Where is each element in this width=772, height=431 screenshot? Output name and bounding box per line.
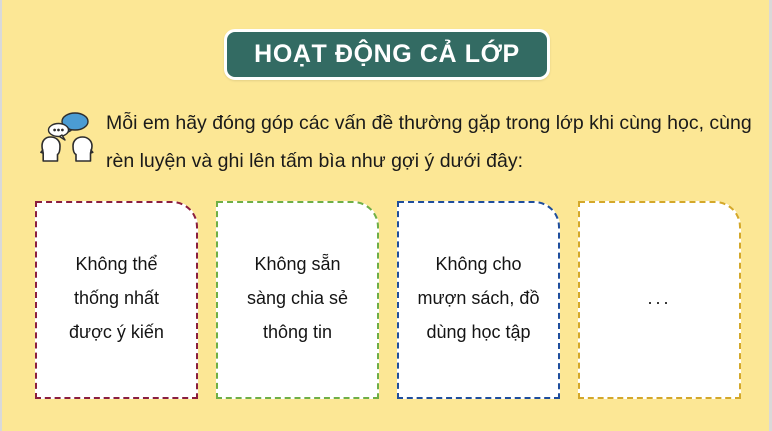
idea-card-2-line-1: Không sẵn bbox=[226, 247, 369, 281]
slide-canvas: HOẠT ĐỘNG CẢ LỚP M bbox=[0, 0, 772, 431]
idea-card-3-text: Không cho mượn sách, đồ dùng học tập bbox=[407, 247, 550, 349]
idea-card-3-line-2: mượn sách, đồ bbox=[407, 281, 550, 315]
idea-card-2-line-3: thông tin bbox=[226, 315, 369, 349]
instruction-line-1: Mỗi em hãy đóng góp các vấn đề thường gặ… bbox=[106, 112, 662, 134]
idea-card-4-empty[interactable]: ... bbox=[578, 201, 741, 399]
instruction-row: Mỗi em hãy đóng góp các vấn đề thường gặ… bbox=[40, 104, 752, 180]
idea-card-4-ellipsis: ... bbox=[647, 288, 671, 309]
idea-card-2-line-2: sàng chia sẻ bbox=[226, 281, 369, 315]
idea-card-1-line-2: thống nhất bbox=[45, 281, 188, 315]
activity-title-banner: HOẠT ĐỘNG CẢ LỚP bbox=[224, 29, 550, 80]
instruction-paragraph: Mỗi em hãy đóng góp các vấn đề thường gặ… bbox=[106, 104, 752, 180]
idea-card-2[interactable]: Không sẵn sàng chia sẻ thông tin bbox=[216, 201, 379, 399]
idea-card-3-line-1: Không cho bbox=[407, 247, 550, 281]
idea-cards-row: Không thể thống nhất được ý kiến Không s… bbox=[35, 201, 741, 399]
idea-card-1-line-1: Không thể bbox=[45, 247, 188, 281]
idea-card-1-line-3: được ý kiến bbox=[45, 315, 188, 349]
idea-card-2-text: Không sẵn sàng chia sẻ thông tin bbox=[226, 247, 369, 349]
page-title: HOẠT ĐỘNG CẢ LỚP bbox=[254, 42, 520, 67]
idea-card-3-line-3: dùng học tập bbox=[407, 315, 550, 349]
idea-card-1[interactable]: Không thể thống nhất được ý kiến bbox=[35, 201, 198, 399]
two-people-discussion-icon bbox=[40, 108, 98, 164]
idea-card-3[interactable]: Không cho mượn sách, đồ dùng học tập bbox=[397, 201, 560, 399]
idea-card-1-text: Không thể thống nhất được ý kiến bbox=[45, 247, 188, 349]
